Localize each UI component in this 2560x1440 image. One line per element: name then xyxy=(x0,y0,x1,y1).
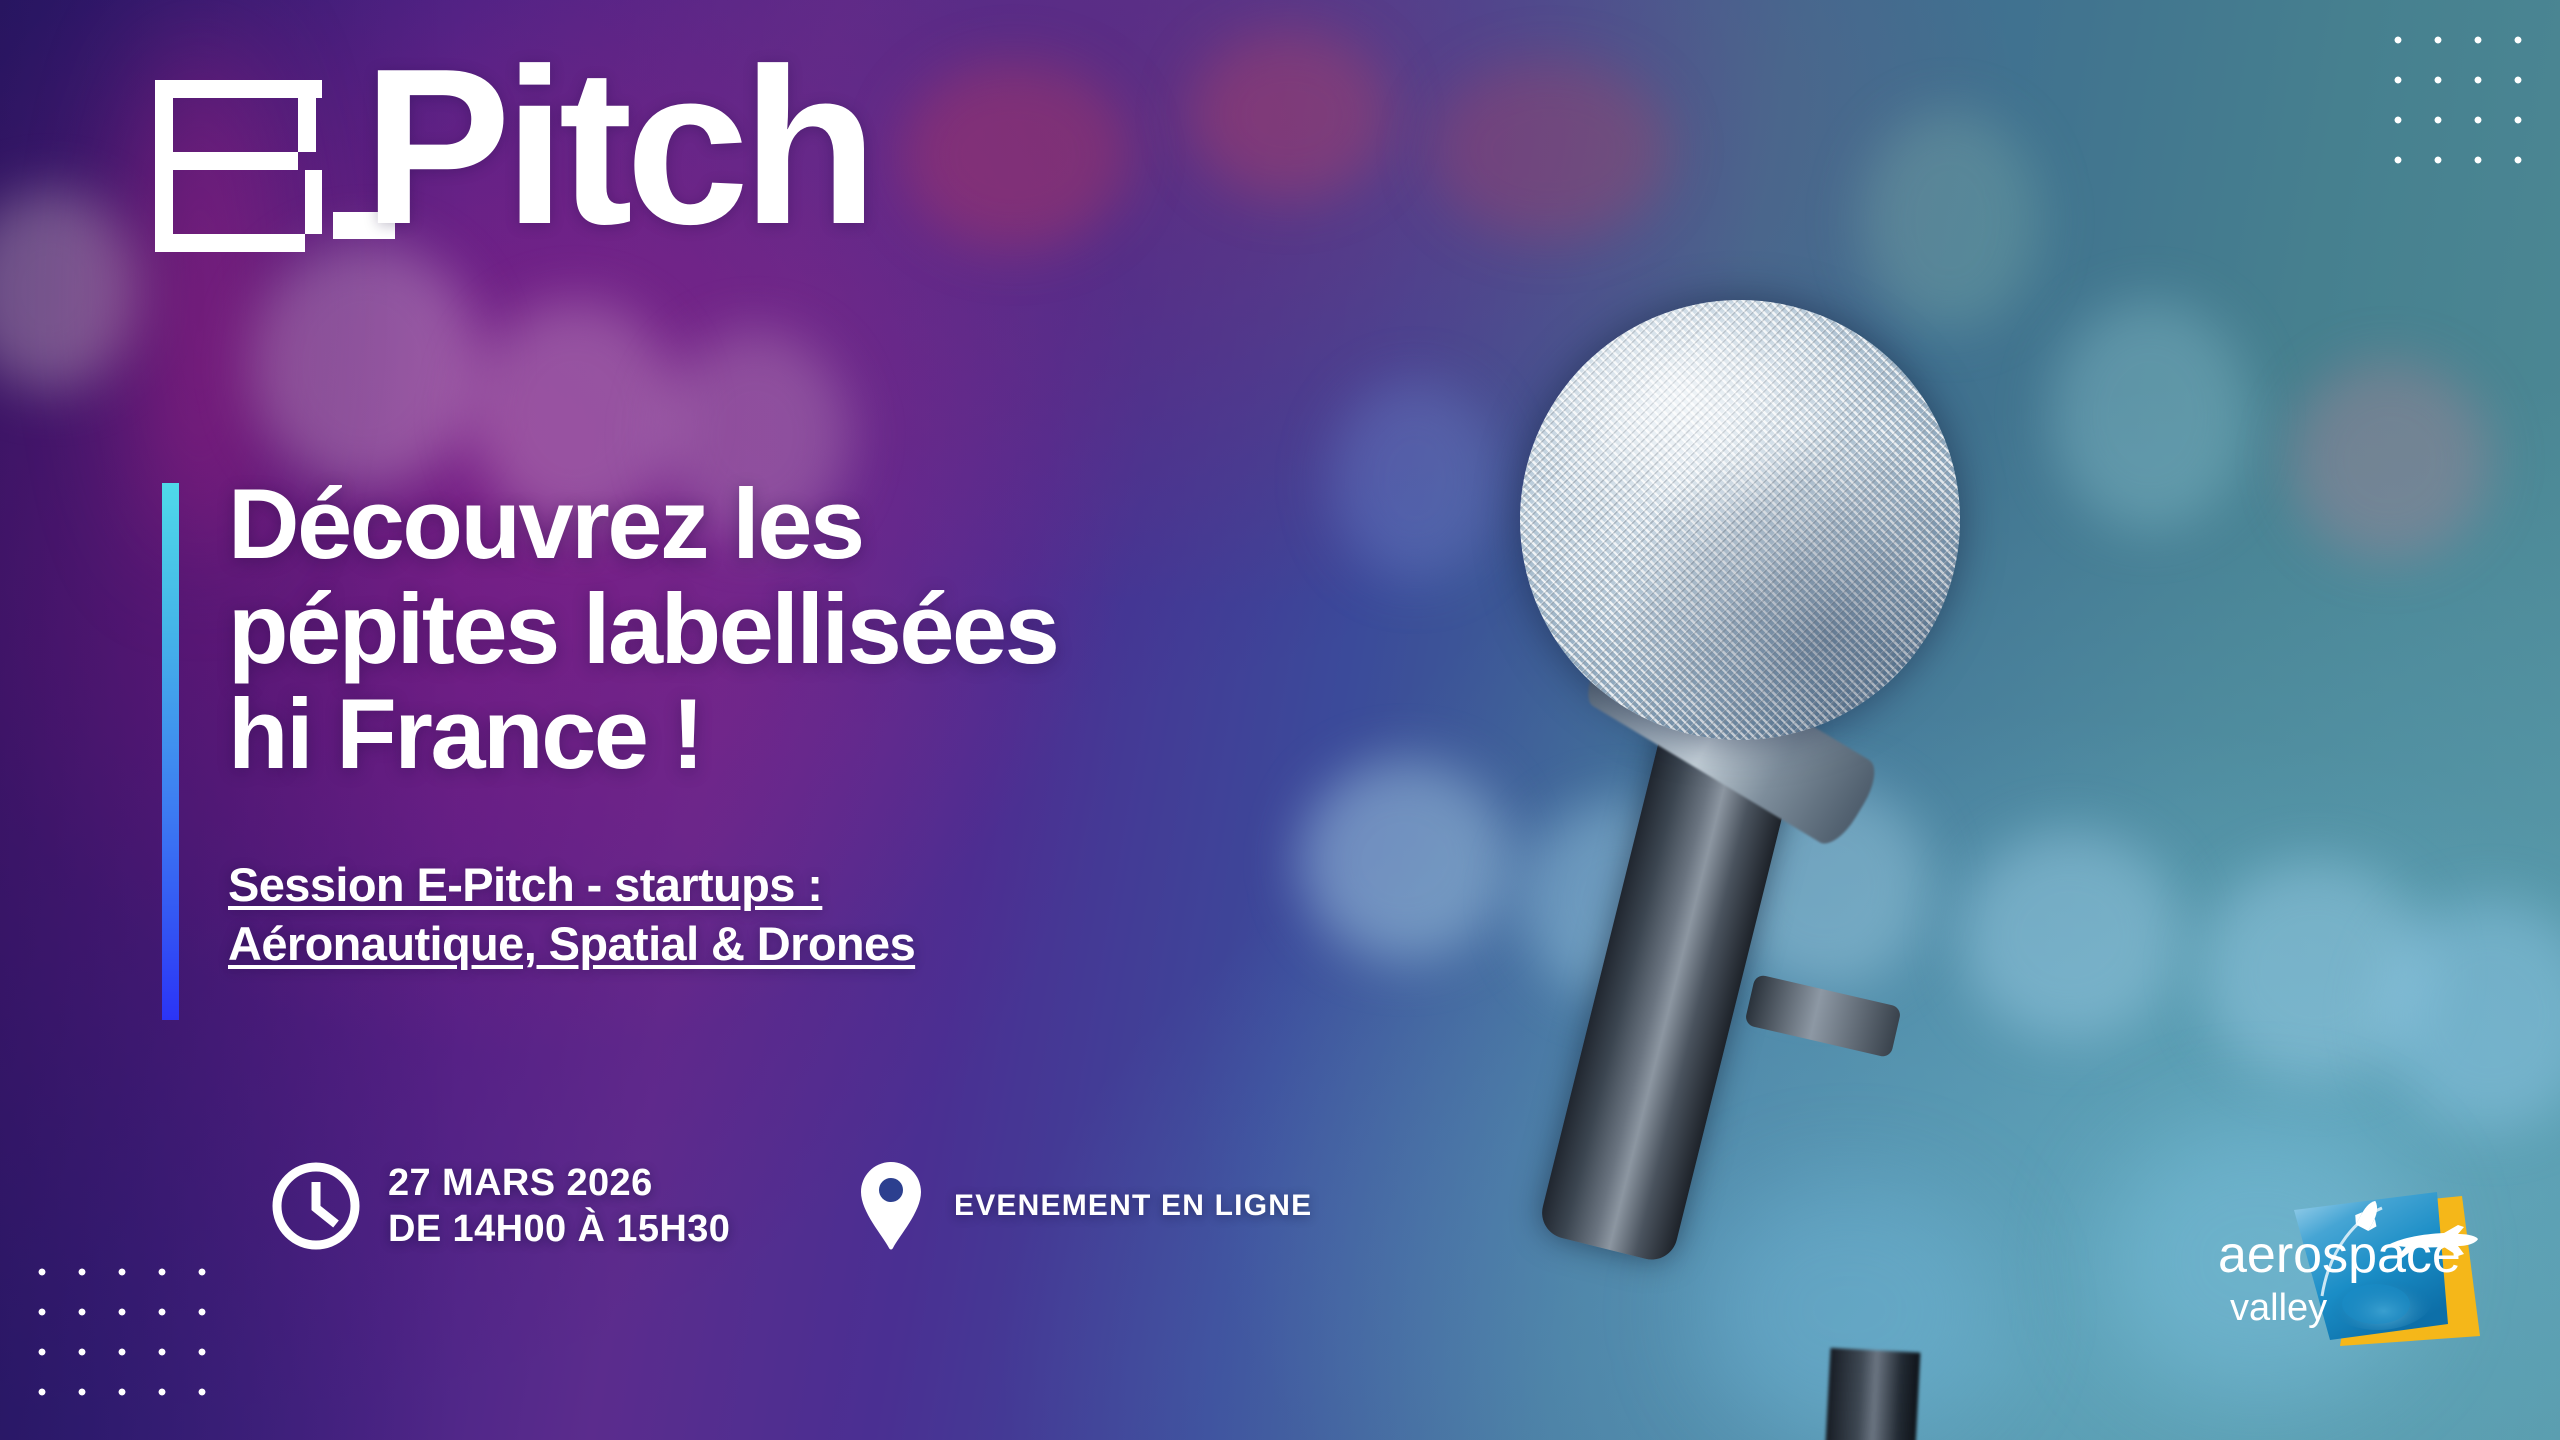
event-date-line: 27 MARS 2026 xyxy=(388,1160,730,1206)
event-date-block: 27 MARS 2026 DE 14H00 À 15H30 xyxy=(270,1160,860,1253)
aerospace-valley-logo: aerospace valley xyxy=(2212,1180,2508,1356)
event-date-text: 27 MARS 2026 DE 14H00 À 15H30 xyxy=(388,1160,730,1253)
microphone-image xyxy=(1520,300,2140,1440)
epitch-e-mark-icon xyxy=(155,80,322,252)
headline-line: Découvrez les xyxy=(228,472,1488,577)
subtitle: Session E-Pitch - startups : Aéronautiqu… xyxy=(228,856,915,974)
microphone-gloss xyxy=(1520,300,1960,740)
event-info-row: 27 MARS 2026 DE 14H00 À 15H30 EVENEMENT … xyxy=(270,1160,1312,1253)
headline-line: pépites labellisées xyxy=(228,577,1488,682)
event-time-line: DE 14H00 À 15H30 xyxy=(388,1206,730,1252)
clock-icon xyxy=(270,1160,362,1252)
epitch-wordmark: Pitch xyxy=(363,36,871,258)
microphone-handle-lower xyxy=(1759,1135,1933,1440)
accent-bar xyxy=(162,483,179,1020)
subtitle-line: Aéronautique, Spatial & Drones xyxy=(228,915,915,974)
headline: Découvrez les pépites labellisées hi Fra… xyxy=(228,472,1488,787)
event-location-text: EVENEMENT EN LIGNE xyxy=(954,1189,1312,1223)
microphone-collar xyxy=(1744,974,1902,1058)
av-wordmark-aerospace: aerospace xyxy=(2218,1226,2461,1284)
event-location-block: EVENEMENT EN LIGNE xyxy=(860,1160,1312,1252)
subtitle-line: Session E-Pitch - startups : xyxy=(228,856,915,915)
event-banner: Pitch Découvrez les pépites labellisées … xyxy=(0,0,2560,1440)
microphone-head xyxy=(1520,300,1960,740)
av-wordmark-valley: valley xyxy=(2230,1287,2327,1329)
headline-line: hi France ! xyxy=(228,682,1488,787)
epitch-logo: Pitch xyxy=(155,80,1305,295)
map-pin-icon xyxy=(860,1160,922,1252)
